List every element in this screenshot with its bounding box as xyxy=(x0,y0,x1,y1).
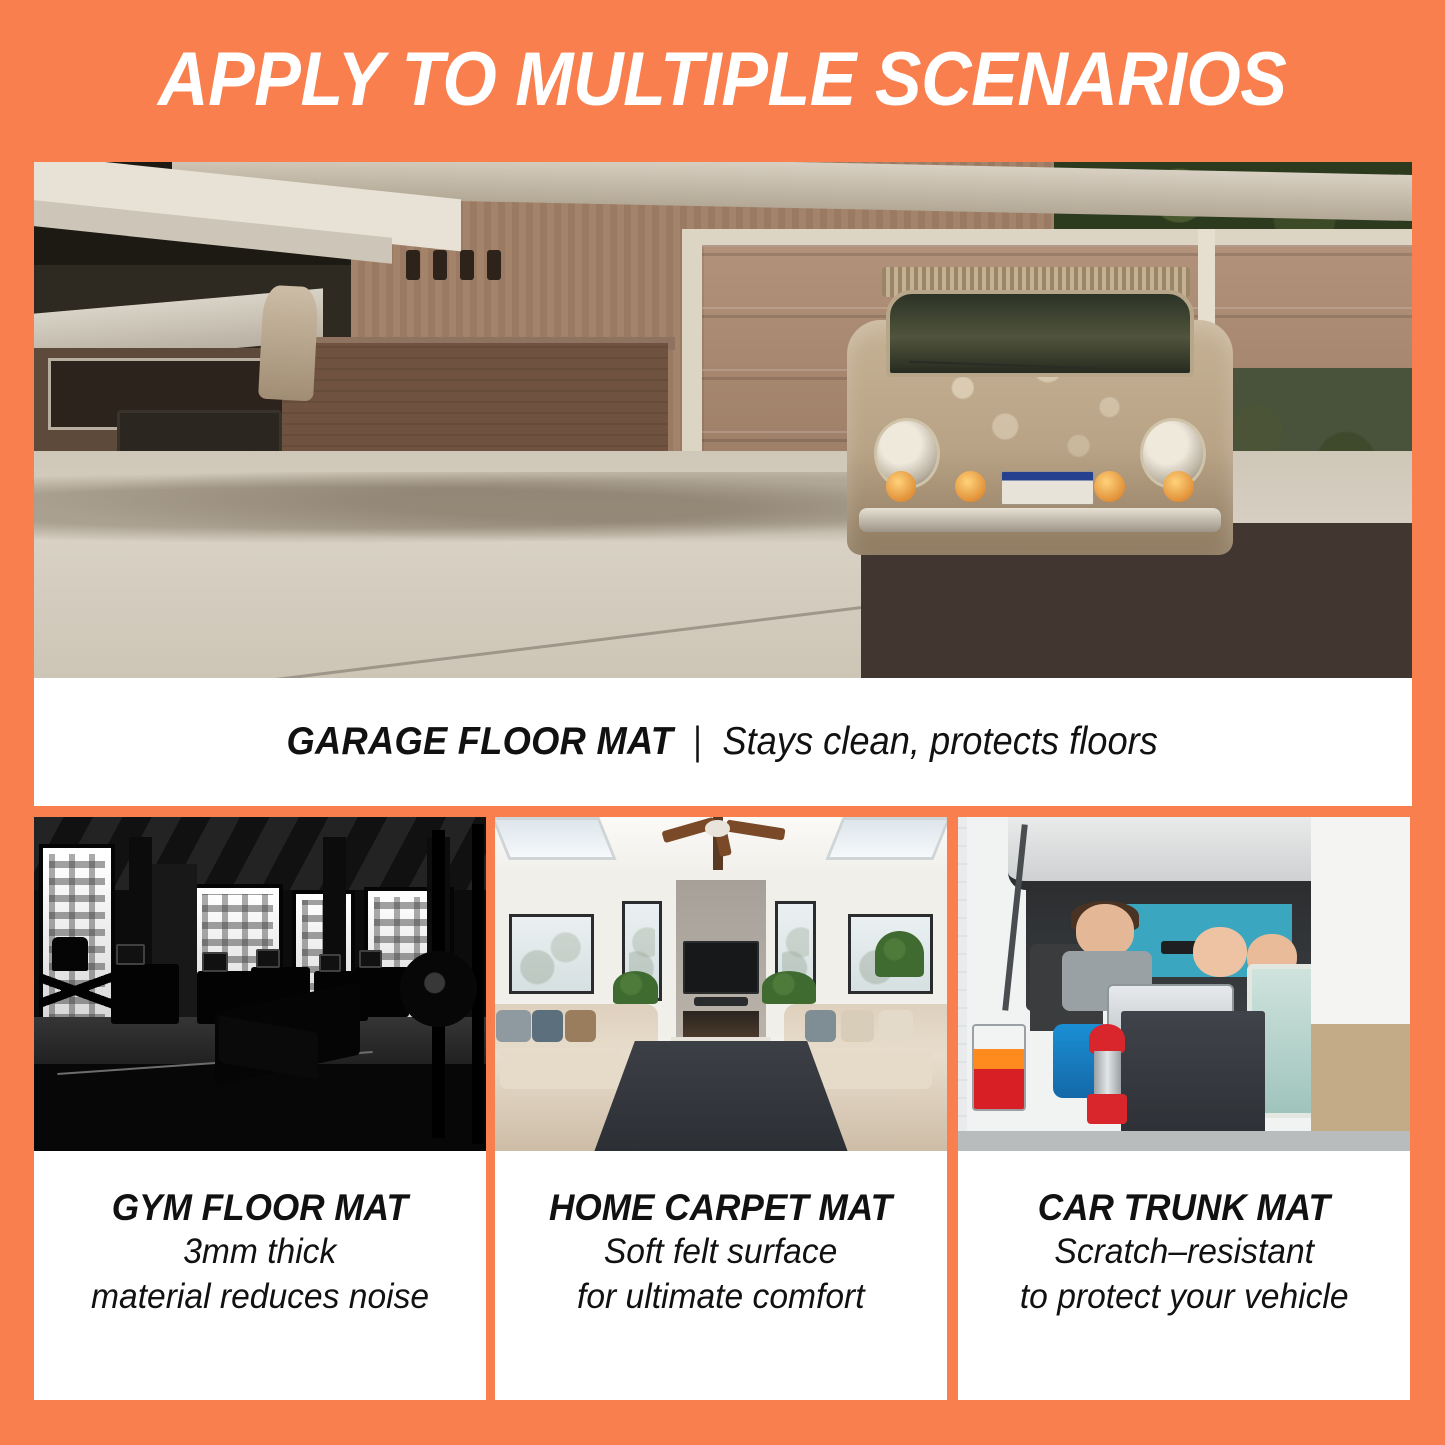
car-turn-signal-2 xyxy=(955,471,986,502)
throw-pillow-3 xyxy=(565,1010,596,1042)
gym-scene xyxy=(34,817,486,1151)
car-bumper xyxy=(859,508,1222,531)
trunk-caption-line2: to protect your vehicle xyxy=(1020,1275,1349,1320)
standing-person xyxy=(1311,817,1410,1151)
driveway-ground xyxy=(958,1131,1410,1151)
gym-caption-line1: 3mm thick xyxy=(183,1230,336,1275)
scenario-cell-trunk: CAR TRUNK MAT Scratch–resistant to prote… xyxy=(958,817,1410,1400)
treadmill-console-2 xyxy=(202,952,229,971)
patio-chair xyxy=(117,410,282,456)
car-trunk-image xyxy=(958,817,1410,1151)
hero-image-garage xyxy=(34,162,1412,678)
car-turn-signal-3 xyxy=(1094,471,1125,502)
car-windshield xyxy=(886,290,1195,377)
dark-carpet-mat xyxy=(594,1041,847,1151)
garage-scene xyxy=(34,162,1412,678)
scenario-cell-home: HOME CARPET MAT Soft felt surface for ul… xyxy=(495,817,947,1400)
home-caption-line1: Soft felt surface xyxy=(604,1230,837,1275)
hero-caption-separator: | xyxy=(689,720,704,764)
boy-face xyxy=(1076,904,1135,957)
scenario-cell-gym: GYM FLOOR MAT 3mm thick material reduces… xyxy=(34,817,486,1400)
throw-pillow-5 xyxy=(841,1010,874,1042)
living-room-image xyxy=(495,817,947,1151)
header-banner: APPLY TO MULTIPLE SCENARIOS xyxy=(0,0,1445,160)
gym-image xyxy=(34,817,486,1151)
gym-rubber-mat xyxy=(34,1064,486,1151)
houseplant-2 xyxy=(762,971,816,1004)
trunk-caption-line1: Scratch–resistant xyxy=(1054,1230,1314,1275)
throw-pillow-4 xyxy=(805,1010,836,1042)
living-room-scene xyxy=(495,817,947,1151)
elliptical-seat xyxy=(52,937,88,970)
lantern-glass xyxy=(1094,1051,1121,1098)
soundbar xyxy=(694,997,748,1005)
treadmill-console-3 xyxy=(256,949,281,968)
page-title: APPLY TO MULTIPLE SCENARIOS xyxy=(158,42,1286,118)
gym-caption-title: GYM FLOOR MAT xyxy=(112,1185,408,1230)
sofa-cushion-right xyxy=(808,1051,932,1089)
hero-caption-title: GARAGE FLOOR MAT xyxy=(287,720,674,764)
patio-umbrella xyxy=(258,284,319,400)
treadmill-1 xyxy=(111,964,179,1024)
trunk-caption-title: CAR TRUNK MAT xyxy=(1038,1185,1330,1230)
vintage-car xyxy=(847,260,1233,595)
skylight-right xyxy=(825,817,947,860)
woman-face xyxy=(1193,927,1247,977)
gym-caption-line2: material reduces noise xyxy=(91,1275,429,1320)
car-trunk-scene xyxy=(958,817,1410,1151)
brick-planter-wall xyxy=(282,343,668,457)
throw-pillow-2 xyxy=(532,1010,563,1042)
houseplant-1 xyxy=(613,971,658,1004)
treadmill-console-5 xyxy=(359,950,382,968)
throw-pillow-6 xyxy=(879,1010,913,1042)
house-number-digits xyxy=(406,250,501,280)
window-foliage-1 xyxy=(516,921,588,987)
car-license-plate xyxy=(1001,471,1094,505)
hero-caption-line: GARAGE FLOOR MAT|Stays clean, protects f… xyxy=(272,720,1174,764)
trunk-caption-panel: CAR TRUNK MAT Scratch–resistant to prote… xyxy=(958,1151,1410,1400)
home-caption-panel: HOME CARPET MAT Soft felt surface for ul… xyxy=(495,1151,947,1400)
tail-light xyxy=(972,1024,1026,1111)
living-room-window-1 xyxy=(509,914,595,994)
open-hatch-door xyxy=(1008,817,1361,890)
barbell-weight-plate xyxy=(400,951,477,1028)
ceiling-fan-hub xyxy=(705,820,730,837)
skylight-left xyxy=(495,817,617,860)
sofa-cushion-left xyxy=(500,1051,624,1089)
houseplant-3 xyxy=(875,931,925,978)
gym-caption-panel: GYM FLOOR MAT 3mm thick material reduces… xyxy=(34,1151,486,1400)
treadmill-console-1 xyxy=(116,944,144,966)
hero-caption-panel: GARAGE FLOOR MAT|Stays clean, protects f… xyxy=(34,678,1412,806)
fireplace-firebox xyxy=(683,1011,760,1038)
lantern-top xyxy=(1089,1024,1125,1054)
treadmill-console-4 xyxy=(319,954,342,972)
home-caption-line2: for ultimate comfort xyxy=(577,1275,865,1320)
hero-caption-subtitle: Stays clean, protects floors xyxy=(722,720,1157,764)
lantern-base xyxy=(1087,1094,1128,1124)
dark-trunk-mat xyxy=(1121,1011,1266,1138)
wall-mounted-tv xyxy=(683,941,760,994)
throw-pillow-1 xyxy=(496,1010,530,1042)
home-caption-title: HOME CARPET MAT xyxy=(549,1185,892,1230)
